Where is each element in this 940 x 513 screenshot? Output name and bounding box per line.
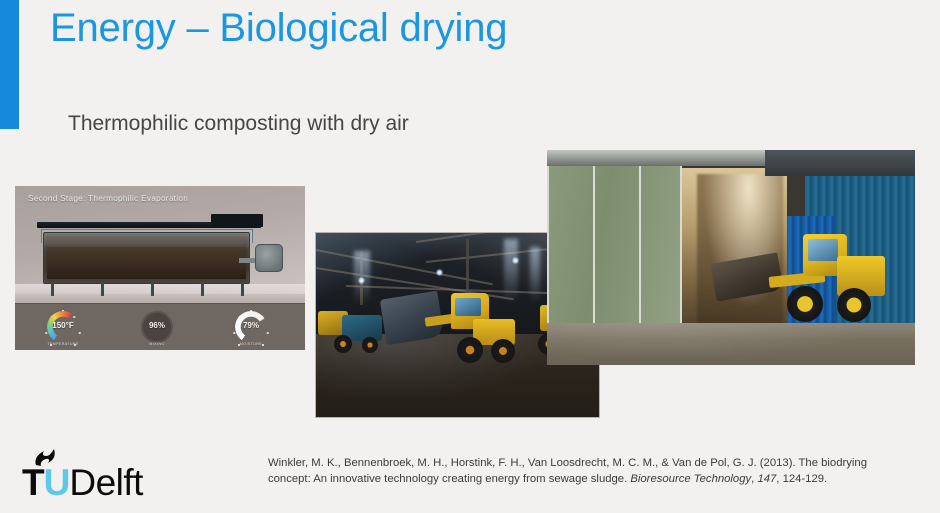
citation-line-1: Winkler, M. K., Bennenbroek, M. H., Hors… [268, 457, 796, 469]
accent-bar [0, 0, 19, 129]
loader-dumping-compost-photo [547, 150, 915, 365]
loader-wheel [457, 337, 483, 363]
dumping-loader [725, 230, 885, 330]
gauge-temperature: 150°F TEMPERATURE [43, 309, 83, 349]
loader-windshield [455, 298, 481, 316]
gauge-value: 79% [231, 321, 271, 330]
loader-wheel [837, 288, 871, 322]
door-mullion [639, 158, 641, 333]
hall-lamp-icon [358, 277, 365, 284]
citation-journal: Bioresource Technology [630, 473, 751, 485]
vessel-leg [241, 282, 244, 296]
page-title: Energy – Biological drying [50, 6, 507, 51]
vessel-leg [101, 282, 104, 296]
gauge-label: MOISTURE [225, 342, 277, 346]
tu-delft-logo: TUDelft [22, 448, 172, 504]
foreground-loader [421, 293, 516, 365]
loader-wheel [334, 335, 352, 353]
hall-green-doors [547, 158, 682, 333]
diagram-caption: Second Stage: Thermophilic Evaporation [28, 194, 188, 203]
loader-wheel [787, 286, 823, 322]
logo-letter-u: U [44, 462, 70, 503]
loader-wheel [491, 339, 515, 363]
logo-letter-t: T [22, 462, 44, 503]
loader-windshield [808, 239, 838, 261]
citation-line-2c: , 124-129. [776, 473, 827, 485]
slide-subtitle: Thermophilic composting with dry air [68, 112, 409, 136]
vessel-body [43, 232, 250, 284]
evaporation-vessel-diagram: Second Stage: Thermophilic Evaporation 1… [15, 186, 305, 350]
gauge-mixing: 96% MIXING [137, 309, 177, 349]
vessel-duct [211, 214, 263, 227]
slide: Energy – Biological drying Thermophilic … [0, 0, 940, 513]
gauge-label: TEMPERATURE [37, 342, 89, 346]
logo-word-delft: Delft [69, 462, 143, 503]
hall-lamp-icon [512, 257, 519, 264]
roof-overhang [765, 150, 915, 176]
citation-volume: 147 [757, 473, 776, 485]
gauge-panel: 150°F TEMPERATURE 96% MIXING 79% MOISTUR… [15, 303, 305, 350]
hall-lamp-icon [436, 269, 443, 276]
gauge-label: MIXING [131, 342, 183, 346]
logo-wordmark: TUDelft [22, 464, 143, 501]
vessel-leg [201, 282, 204, 296]
hall-column [466, 239, 469, 301]
citation: Winkler, M. K., Bennenbroek, M. H., Hors… [268, 455, 908, 487]
loader-wheel [362, 337, 378, 353]
gauge-value: 96% [137, 321, 177, 330]
vessel-leg [51, 282, 54, 296]
light-beam [530, 247, 540, 303]
gauge-value: 150°F [43, 321, 83, 330]
background-loader-left [318, 311, 384, 359]
vessel-sludge-mass [47, 247, 246, 279]
vessel-leg [151, 282, 154, 296]
gauge-moisture: 79% MOISTURE [231, 309, 271, 349]
vessel-motor [255, 244, 283, 272]
door-mullion [593, 158, 595, 333]
